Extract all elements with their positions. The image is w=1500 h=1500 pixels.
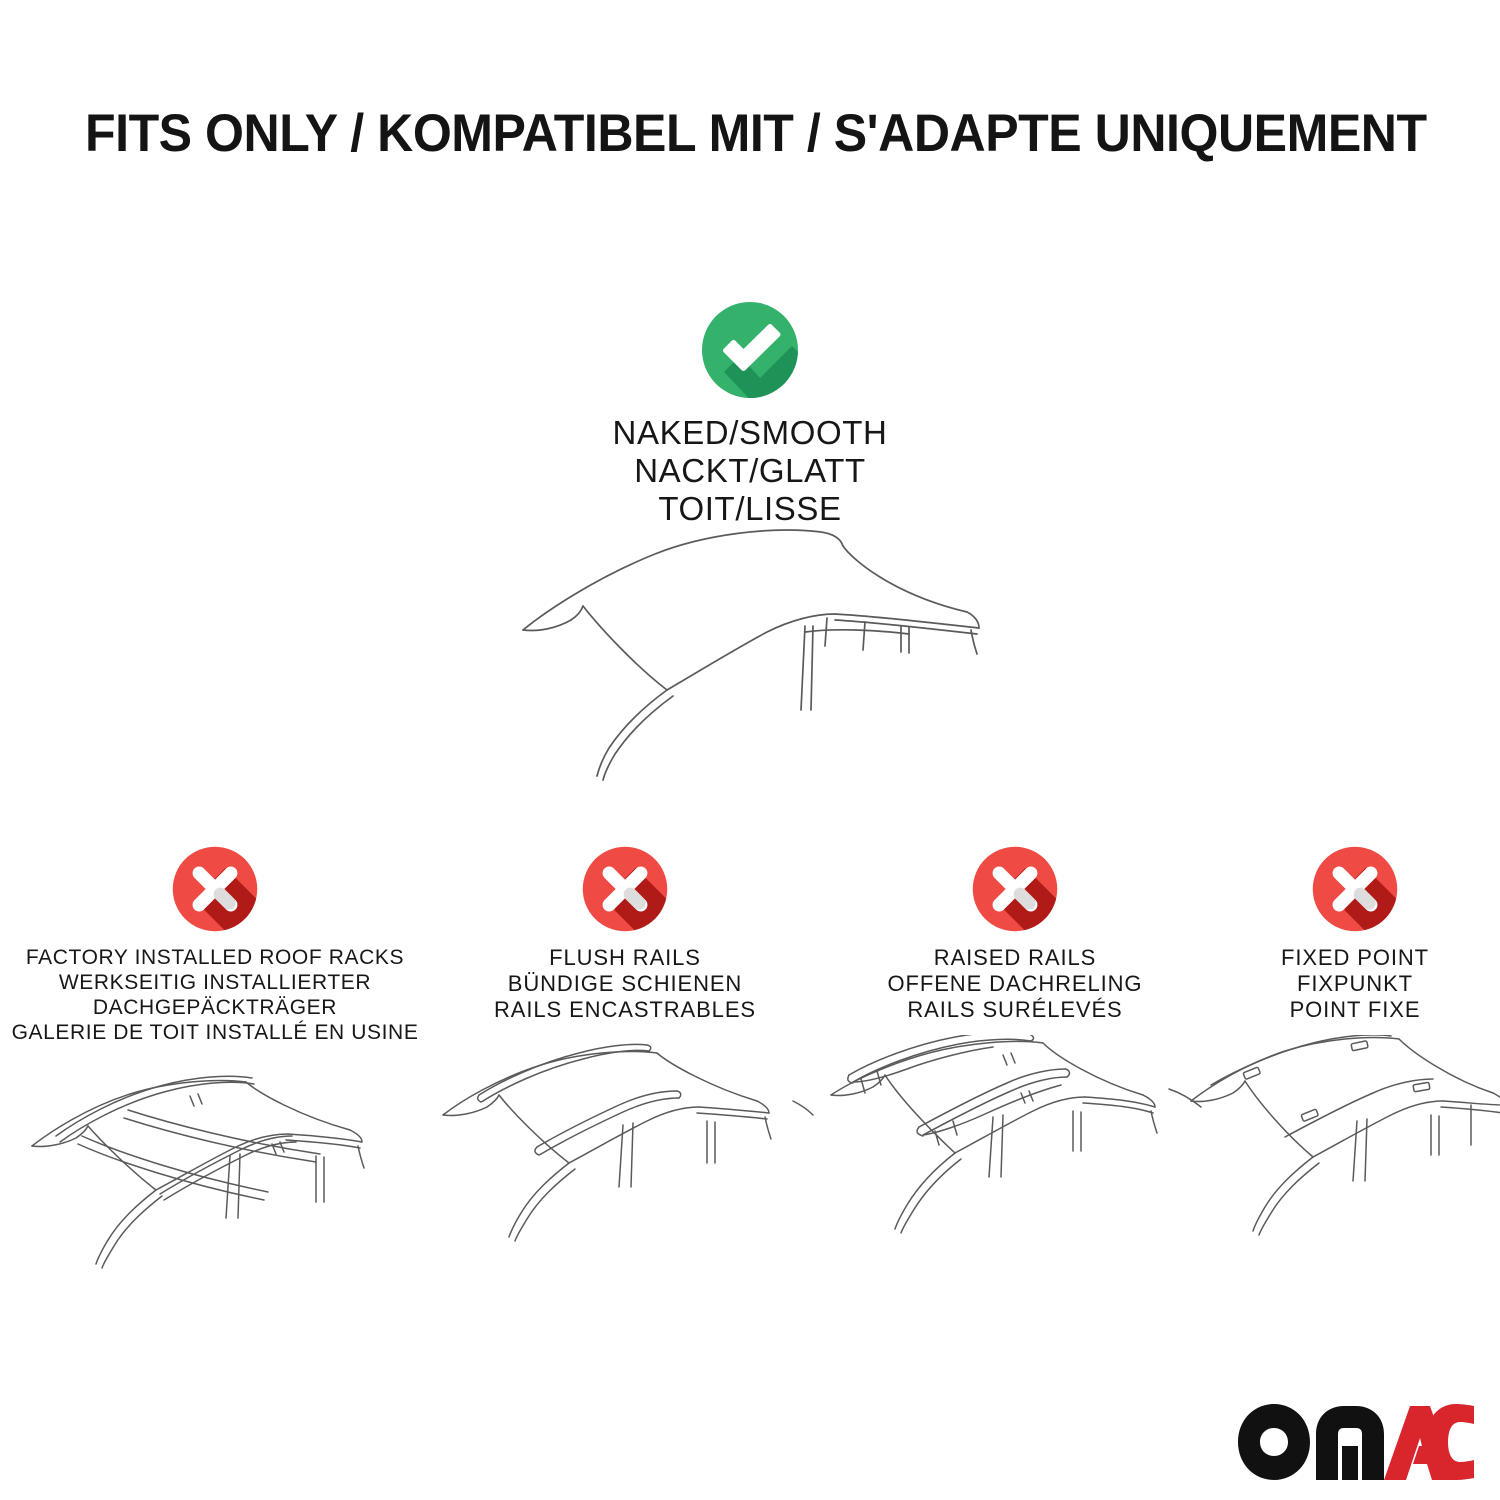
label-line-3: RAILS ENCASTRABLES	[430, 997, 820, 1023]
label-line-4: GALERIE DE TOIT INSTALLÉ EN USINE	[0, 1020, 430, 1045]
car-roof-naked-smooth-illustration	[505, 520, 1005, 790]
label-line-1: RAISED RAILS	[820, 945, 1210, 971]
incompatible-cell-fixed-point: FIXED POINT FIXPUNKT POINT FIXE	[1210, 845, 1500, 1045]
compatible-label-en: NAKED/SMOOTH	[500, 414, 1000, 452]
label-line-1: FLUSH RAILS	[430, 945, 820, 971]
incompatible-cell-flush-rails: FLUSH RAILS BÜNDIGE SCHIENEN RAILS ENCAS…	[430, 845, 820, 1045]
incompatible-cell-factory-roof-racks: FACTORY INSTALLED ROOF RACKS WERKSEITIG …	[0, 845, 430, 1045]
page-title: FITS ONLY / KOMPATIBEL MIT / S'ADAPTE UN…	[85, 103, 1351, 165]
car-roof-raised-rails-illustration	[825, 1035, 1205, 1265]
compatible-label-de: NACKT/GLATT	[500, 452, 1000, 490]
label-line-2: FIXPUNKT	[1210, 971, 1500, 997]
incompatible-labels-raised-rails: RAISED RAILS OFFENE DACHRELING RAILS SUR…	[820, 945, 1210, 1023]
fitment-chart: FITS ONLY / KOMPATIBEL MIT / S'ADAPTE UN…	[0, 0, 1500, 1500]
car-roof-fixed-point-illustration	[1185, 1035, 1500, 1265]
incompatible-labels-factory-roof-racks: FACTORY INSTALLED ROOF RACKS WERKSEITIG …	[0, 945, 430, 1045]
cross-circle-icon	[581, 845, 669, 933]
cross-circle-icon	[1311, 845, 1399, 933]
label-line-1: FACTORY INSTALLED ROOF RACKS	[0, 945, 430, 970]
label-line-1: FIXED POINT	[1210, 945, 1500, 971]
label-line-3: DACHGEPÄCKTRÄGER	[0, 995, 430, 1020]
compatible-labels: NAKED/SMOOTH NACKT/GLATT TOIT/LISSE	[500, 414, 1000, 528]
label-line-2: OFFENE DACHRELING	[820, 971, 1210, 997]
car-roof-factory-roof-racks-illustration	[20, 1050, 410, 1280]
label-line-2: BÜNDIGE SCHIENEN	[430, 971, 820, 997]
check-circle-icon	[700, 300, 800, 400]
incompatible-labels-flush-rails: FLUSH RAILS BÜNDIGE SCHIENEN RAILS ENCAS…	[430, 945, 820, 1023]
label-line-3: POINT FIXE	[1210, 997, 1500, 1023]
compatible-block: NAKED/SMOOTH NACKT/GLATT TOIT/LISSE	[500, 300, 1000, 528]
incompatible-labels-fixed-point: FIXED POINT FIXPUNKT POINT FIXE	[1210, 945, 1500, 1023]
cross-circle-icon	[971, 845, 1059, 933]
car-roof-flush-rails-illustration	[435, 1035, 815, 1265]
label-line-2: WERKSEITIG INSTALLIERTER	[0, 970, 430, 995]
incompatible-grid: FACTORY INSTALLED ROOF RACKS WERKSEITIG …	[0, 845, 1500, 1045]
omac-logo	[1238, 1404, 1474, 1480]
cross-circle-icon	[171, 845, 259, 933]
label-line-3: RAILS SURÉLEVÉS	[820, 997, 1210, 1023]
incompatible-cell-raised-rails: RAISED RAILS OFFENE DACHRELING RAILS SUR…	[820, 845, 1210, 1045]
